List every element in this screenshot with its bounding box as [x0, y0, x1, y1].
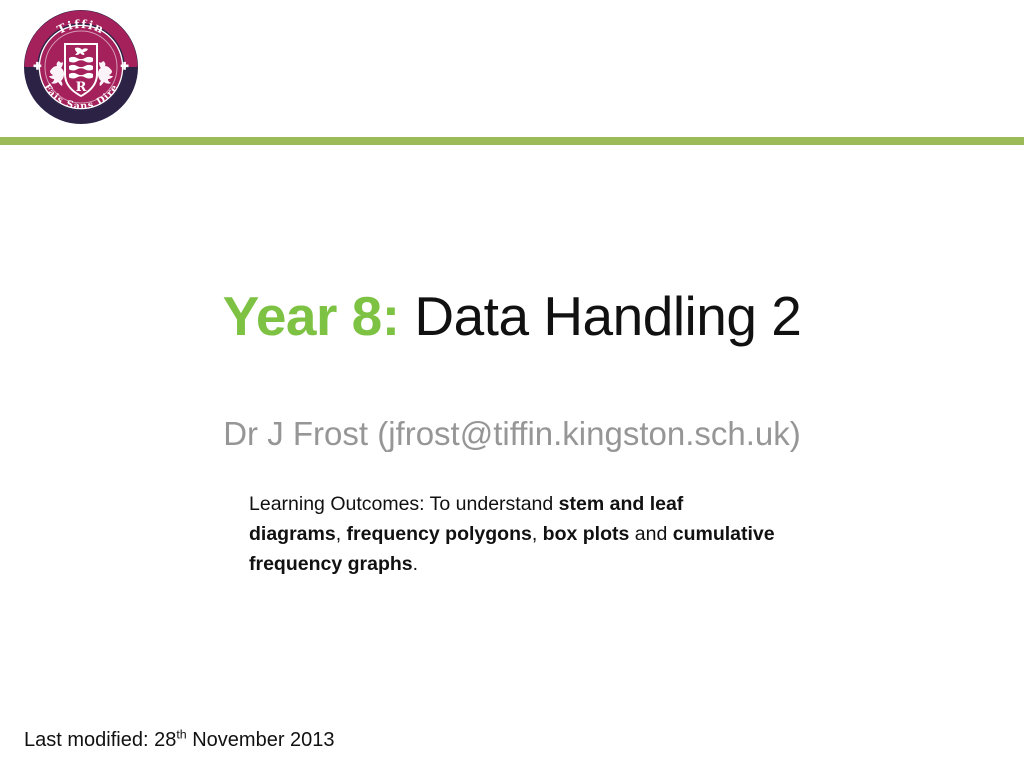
outcomes-lead: Learning Outcomes: To understand — [249, 493, 559, 515]
slide-title-text: Year 8: Data Handling 2 — [223, 285, 802, 347]
outcomes-term-frequency-polygons: frequency polygons — [347, 523, 532, 545]
tiffin-school-crest-logo: Tiffin Fais Sans Dire — [22, 9, 140, 125]
slide-title: Year 8: Data Handling 2 — [0, 288, 1024, 346]
footer-prefix: Last modified: 28 — [24, 729, 176, 751]
footer-suffix: November 2013 — [187, 729, 335, 751]
outcomes-sep-2: , — [532, 523, 543, 545]
slide-title-accent: Year 8: — [223, 285, 400, 347]
header-divider-bar — [0, 137, 1024, 145]
outcomes-end-punctuation: . — [413, 553, 418, 575]
learning-outcomes-text: Learning Outcomes: To understand stem an… — [249, 489, 779, 579]
outcomes-term-box-plots: box plots — [543, 523, 630, 545]
slide-subtitle: Dr J Frost (jfrost@tiffin.kingston.sch.u… — [0, 415, 1024, 453]
outcomes-conjunction: and — [629, 523, 672, 545]
last-modified-footer: Last modified: 28th November 2013 — [24, 729, 335, 752]
slide-title-rest: Data Handling 2 — [400, 285, 802, 347]
slide-subtitle-text: Dr J Frost (jfrost@tiffin.kingston.sch.u… — [223, 415, 801, 452]
crest-shield-bars — [69, 57, 93, 79]
slide-canvas: Tiffin Fais Sans Dire — [0, 0, 1024, 768]
footer-ordinal-suffix: th — [176, 727, 186, 741]
crest-shield-letter: R — [76, 80, 87, 95]
outcomes-sep-1: , — [336, 523, 347, 545]
